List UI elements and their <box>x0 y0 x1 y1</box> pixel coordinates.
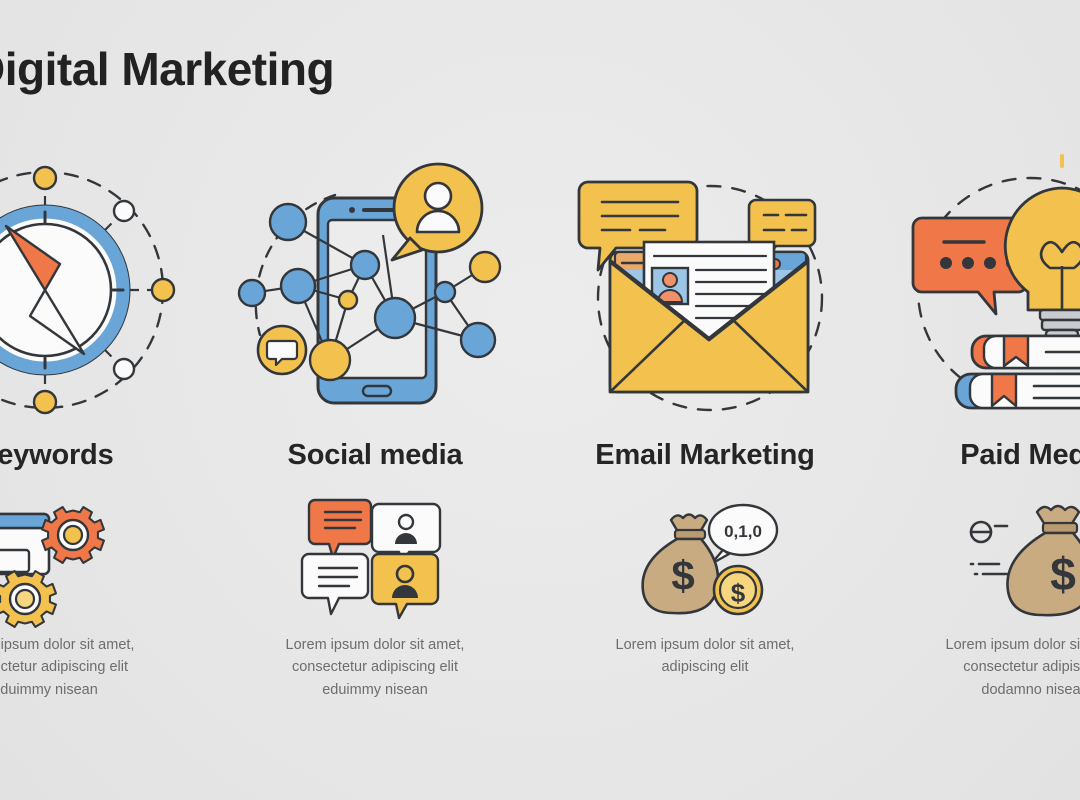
column-title-keywords: Keywords <box>0 439 114 472</box>
money-bag-icon: $ <box>1007 506 1080 615</box>
chat-badge-icon <box>258 326 306 374</box>
books-icon <box>956 336 1080 408</box>
user-badge-icon <box>392 164 482 260</box>
money-bag-list-icon: $ <box>955 498 1080 618</box>
digits-bubble-text: 0,1,0 <box>724 522 762 541</box>
column-email-marketing: Email Marketing 0,1,0 $ <box>540 160 870 679</box>
column-description-social-media: Lorem ipsum dolor sit amet, consectetur … <box>260 634 490 701</box>
envelope-newsletter-icon <box>570 160 840 425</box>
money-bag-dollar-text: $ <box>1050 548 1076 600</box>
coin-dollar-text: $ <box>731 578 746 608</box>
digits-bubble-icon: 0,1,0 <box>709 505 777 564</box>
column-title-email-marketing: Email Marketing <box>595 439 814 472</box>
browser-gears-icon <box>0 498 125 618</box>
money-bag-icon: $ <box>643 515 718 614</box>
column-description-paid-media: Lorem ipsum dolor sit amet, consectetur … <box>920 634 1080 701</box>
smartphone-network-icon <box>240 160 510 425</box>
page-title: Digital Marketing <box>0 42 334 96</box>
column-social-media: Social media <box>210 160 540 701</box>
column-description-email-marketing: Lorem ipsum dolor sit amet, adipiscing e… <box>590 634 820 679</box>
lightbulb-books-icon <box>900 160 1080 425</box>
column-title-social-media: Social media <box>288 439 463 472</box>
column-description-keywords: Lorem ipsum dolor sit amet, consectetur … <box>0 634 160 701</box>
column-keywords: Keywords <box>0 160 210 701</box>
list-marks-icon <box>971 522 1007 574</box>
coin-icon: $ <box>714 566 762 614</box>
compass-network-icon <box>0 160 180 425</box>
column-title-paid-media: Paid Media <box>960 439 1080 472</box>
speech-bubbles-icon <box>295 498 455 618</box>
money-bag-coin-icon: 0,1,0 $ $ <box>625 498 785 618</box>
money-bag-dollar-text: $ <box>671 552 694 599</box>
columns-row: Keywords <box>0 160 1080 701</box>
lightbulb-icon <box>1005 156 1080 340</box>
column-paid-media: Paid Media $ <box>870 160 1080 701</box>
